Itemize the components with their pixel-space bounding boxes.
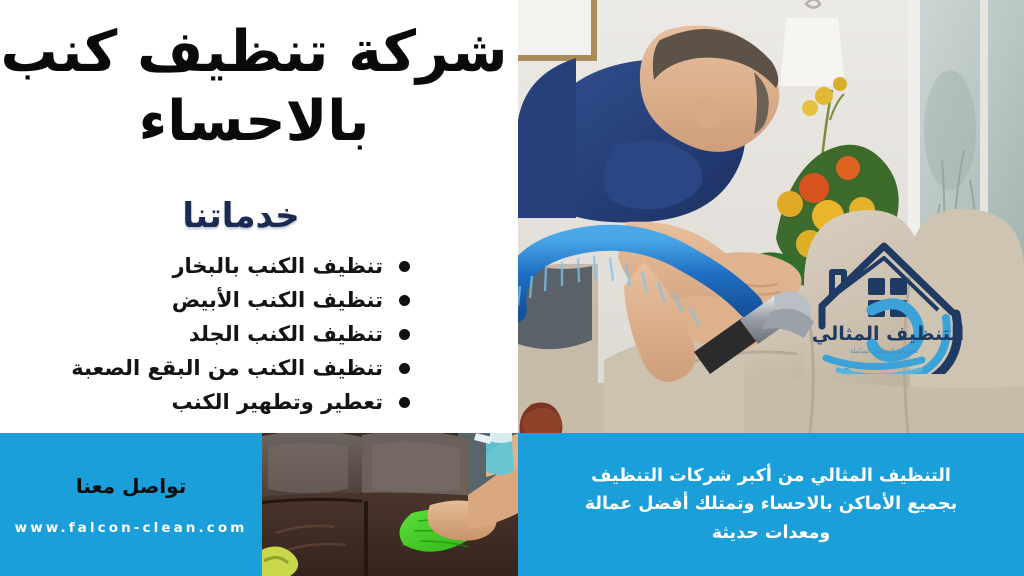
list-item: تنظيف الكنب الجلد: [0, 320, 518, 348]
service-label: تعطير وتطهير الكنب: [172, 390, 383, 414]
headline-line-2: بالاحساء: [0, 88, 508, 156]
bullet-icon: [399, 295, 410, 306]
page-title: شركة تنظيف كنب بالاحساء: [0, 18, 508, 156]
list-item: تنظيف الكنب الأبيض: [0, 286, 518, 314]
headline-line-1: شركة تنظيف كنب: [0, 18, 508, 88]
service-label: تنظيف الكنب بالبخار: [172, 254, 383, 278]
contact-title: تواصل معنا: [76, 474, 186, 498]
tagline-line-3: ومعدات حديثة: [712, 519, 830, 547]
poster-canvas: شركة تنظيف كنب بالاحساء خدماتنا تنظيف ال…: [0, 0, 1024, 576]
list-item: تعطير وتطهير الكنب: [0, 388, 518, 416]
service-label: تنظيف الكنب الأبيض: [172, 288, 383, 312]
man-steam-cleaning-sofa-photo: [518, 0, 1024, 433]
services-heading: خدماتنا: [0, 196, 482, 236]
contact-block: تواصل معنا www.falcon-clean.com: [0, 433, 262, 576]
left-text-panel: شركة تنظيف كنب بالاحساء خدماتنا تنظيف ال…: [0, 0, 518, 433]
main-photo: [518, 0, 1024, 433]
list-item: تنظيف الكنب بالبخار: [0, 252, 518, 280]
tagline-line-1: التنظيف المثالي من أكبر شركات التنظيف: [591, 462, 951, 490]
tagline-line-2: بجميع الأماكن بالاحساء وتمتلك أفضل عمالة: [585, 490, 957, 518]
bottom-photo: [262, 433, 518, 576]
bullet-icon: [399, 397, 410, 408]
bullet-icon: [399, 261, 410, 272]
tagline-block: التنظيف المثالي من أكبر شركات التنظيف بج…: [518, 433, 1024, 576]
website-link[interactable]: www.falcon-clean.com: [15, 520, 248, 536]
bullet-icon: [399, 363, 410, 374]
list-item: تنظيف الكنب من البقع الصعبة: [0, 354, 518, 382]
bullet-icon: [399, 329, 410, 340]
service-label: تنظيف الكنب من البقع الصعبة: [71, 356, 383, 380]
service-label: تنظيف الكنب الجلد: [189, 322, 383, 346]
bottom-bar: تواصل معنا www.falcon-clean.com: [0, 433, 1024, 576]
services-list: تنظيف الكنب بالبخار تنظيف الكنب الأبيض ت…: [0, 252, 518, 422]
hand-wiping-leather-sofa-photo: [262, 433, 518, 576]
